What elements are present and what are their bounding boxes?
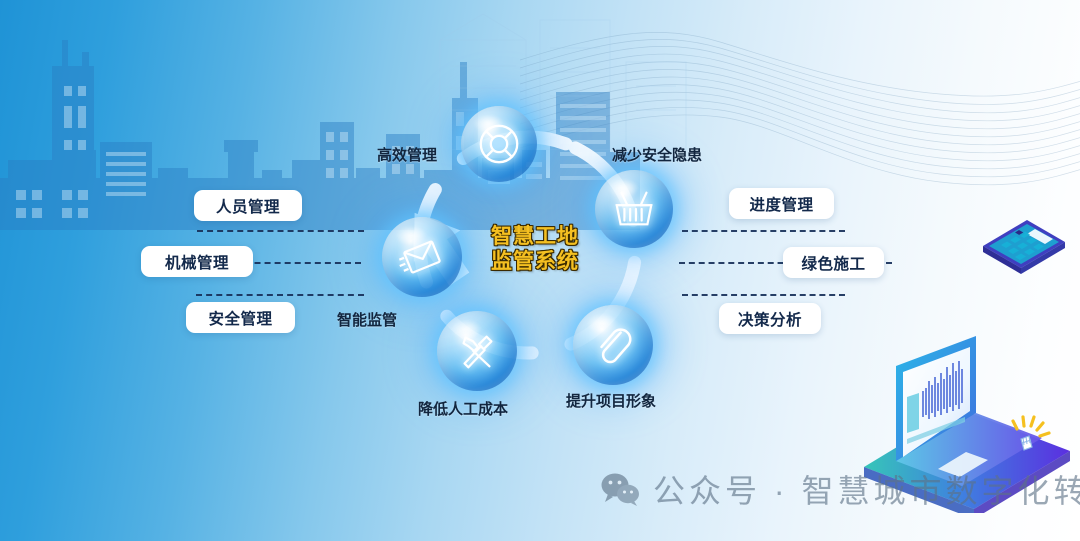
dashed-connector-left-1 xyxy=(197,230,364,232)
label-efficient-management: 高效管理 xyxy=(377,144,437,165)
lifebuoy-icon xyxy=(461,106,537,182)
footer-text: 公众号 · 智慧城市数字化转型 xyxy=(653,466,1080,512)
dashed-connector-left-3 xyxy=(196,294,364,296)
pill-safety-management[interactable]: 安全管理 xyxy=(186,302,295,333)
center-title-line2: 监管系统 xyxy=(470,250,600,275)
pill-label: 机械管理 xyxy=(165,251,229,273)
pill-decision-analysis[interactable]: 决策分析 xyxy=(719,303,821,334)
dashed-connector-right-1 xyxy=(682,230,845,232)
pill-label: 进度管理 xyxy=(749,193,813,215)
pill-progress-management[interactable]: 进度管理 xyxy=(729,188,834,219)
label-reduce-labor-cost: 降低人工成本 xyxy=(418,398,508,419)
label-reduce-safety-hazards: 减少安全隐患 xyxy=(612,144,702,165)
pill-green-construction[interactable]: 绿色施工 xyxy=(783,247,884,278)
dashed-connector-right-3 xyxy=(682,294,845,296)
pill-label: 决策分析 xyxy=(738,308,802,330)
envelope-icon xyxy=(382,217,462,297)
pill-machinery-management[interactable]: 机械管理 xyxy=(141,246,253,277)
paperclip-icon xyxy=(573,305,653,385)
center-title-line1: 智慧工地 xyxy=(470,225,600,250)
infographic-canvas: 智慧工地 监管系统 高效管理 减少安全隐患 智能监管 降低人工成本 提升项目形象… xyxy=(0,0,1080,541)
wechat-icon xyxy=(600,472,640,506)
pill-label: 绿色施工 xyxy=(801,252,865,274)
pill-personnel-management[interactable]: 人员管理 xyxy=(194,190,302,221)
pill-label: 人员管理 xyxy=(216,195,280,217)
tools-icon xyxy=(437,311,517,391)
label-improve-project-image: 提升项目形象 xyxy=(566,390,656,411)
pill-label: 安全管理 xyxy=(208,307,272,329)
label-smart-supervision: 智能监管 xyxy=(337,309,397,330)
center-title: 智慧工地 监管系统 xyxy=(470,225,600,275)
isometric-calculator xyxy=(975,200,1071,286)
footer-watermark: 公众号 · 智慧城市数字化转型 xyxy=(600,466,1080,512)
basket-icon xyxy=(595,170,673,248)
